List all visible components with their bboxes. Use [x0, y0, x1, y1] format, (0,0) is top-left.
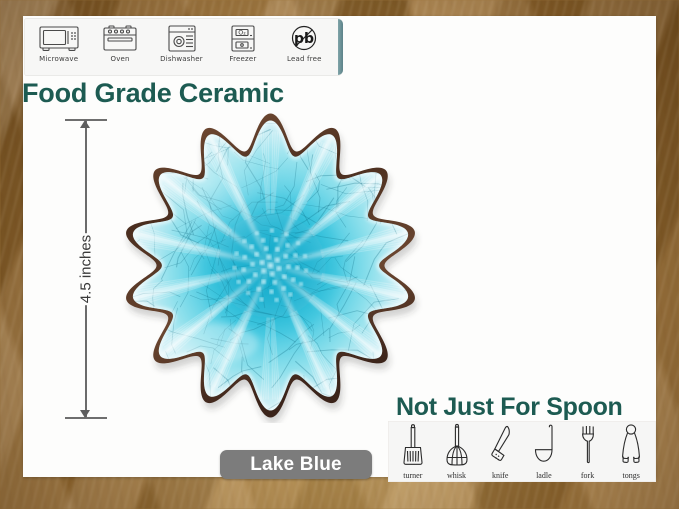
fork-icon	[574, 423, 602, 471]
feature-icon-bar: Microwave	[24, 18, 343, 76]
utensil-label: turner	[403, 471, 422, 481]
utensil-whisk: whisk	[435, 423, 479, 481]
dimension-annotation: 4.5 inches	[62, 119, 110, 419]
microwave-icon	[37, 22, 81, 54]
feature-label: Dishwasher	[160, 55, 203, 63]
utensil-label: ladle	[536, 471, 552, 481]
lead-free-icon: pb	[286, 22, 322, 54]
utensil-panel: turner whisk	[388, 421, 656, 482]
color-badge-label: Lake Blue	[250, 454, 342, 476]
feature-freezer: O₂ Freezer	[212, 22, 273, 63]
dimension-arrow-top	[80, 120, 90, 128]
svg-text:O₂: O₂	[238, 28, 246, 36]
product-image: Microwave	[0, 0, 679, 509]
tongs-icon	[614, 423, 648, 471]
utensil-label: knife	[492, 471, 508, 481]
ladle-icon	[526, 423, 562, 471]
svg-text:pb: pb	[294, 31, 314, 47]
utensil-ladle: ladle	[522, 423, 566, 481]
color-badge: Lake Blue	[220, 450, 372, 479]
feature-lead-free: pb Lead free	[274, 22, 335, 63]
utensil-fork: fork	[566, 423, 610, 481]
feature-label: Oven	[111, 55, 130, 63]
feature-oven: Oven	[89, 22, 150, 63]
feature-label: Microwave	[39, 55, 78, 63]
plate-illustration	[118, 108, 423, 423]
feature-dishwasher: Dishwasher	[151, 22, 212, 63]
heading-not-just-for-spoon: Not Just For Spoon	[396, 393, 623, 422]
utensil-knife: knife	[478, 423, 522, 481]
dimension-arrow-bottom	[80, 410, 90, 418]
dishwasher-icon	[164, 22, 200, 54]
product-plate	[118, 108, 423, 423]
feature-microwave: Microwave	[28, 22, 89, 63]
oven-icon	[100, 22, 140, 54]
utensil-tongs: tongs	[609, 423, 653, 481]
whisk-icon	[440, 423, 474, 471]
feature-label: Lead free	[287, 55, 322, 63]
freezer-icon: O₂	[227, 22, 259, 54]
heading-food-grade: Food Grade Ceramic	[22, 78, 284, 109]
utensil-turner: turner	[391, 423, 435, 481]
utensil-label: fork	[581, 471, 594, 481]
knife-icon	[483, 423, 517, 471]
utensil-label: tongs	[623, 471, 640, 481]
dimension-label: 4.5 inches	[73, 233, 100, 305]
turner-icon	[396, 423, 430, 471]
feature-label: Freezer	[229, 55, 256, 63]
utensil-label: whisk	[447, 471, 466, 481]
icon-bar-accent-edge	[338, 19, 343, 75]
